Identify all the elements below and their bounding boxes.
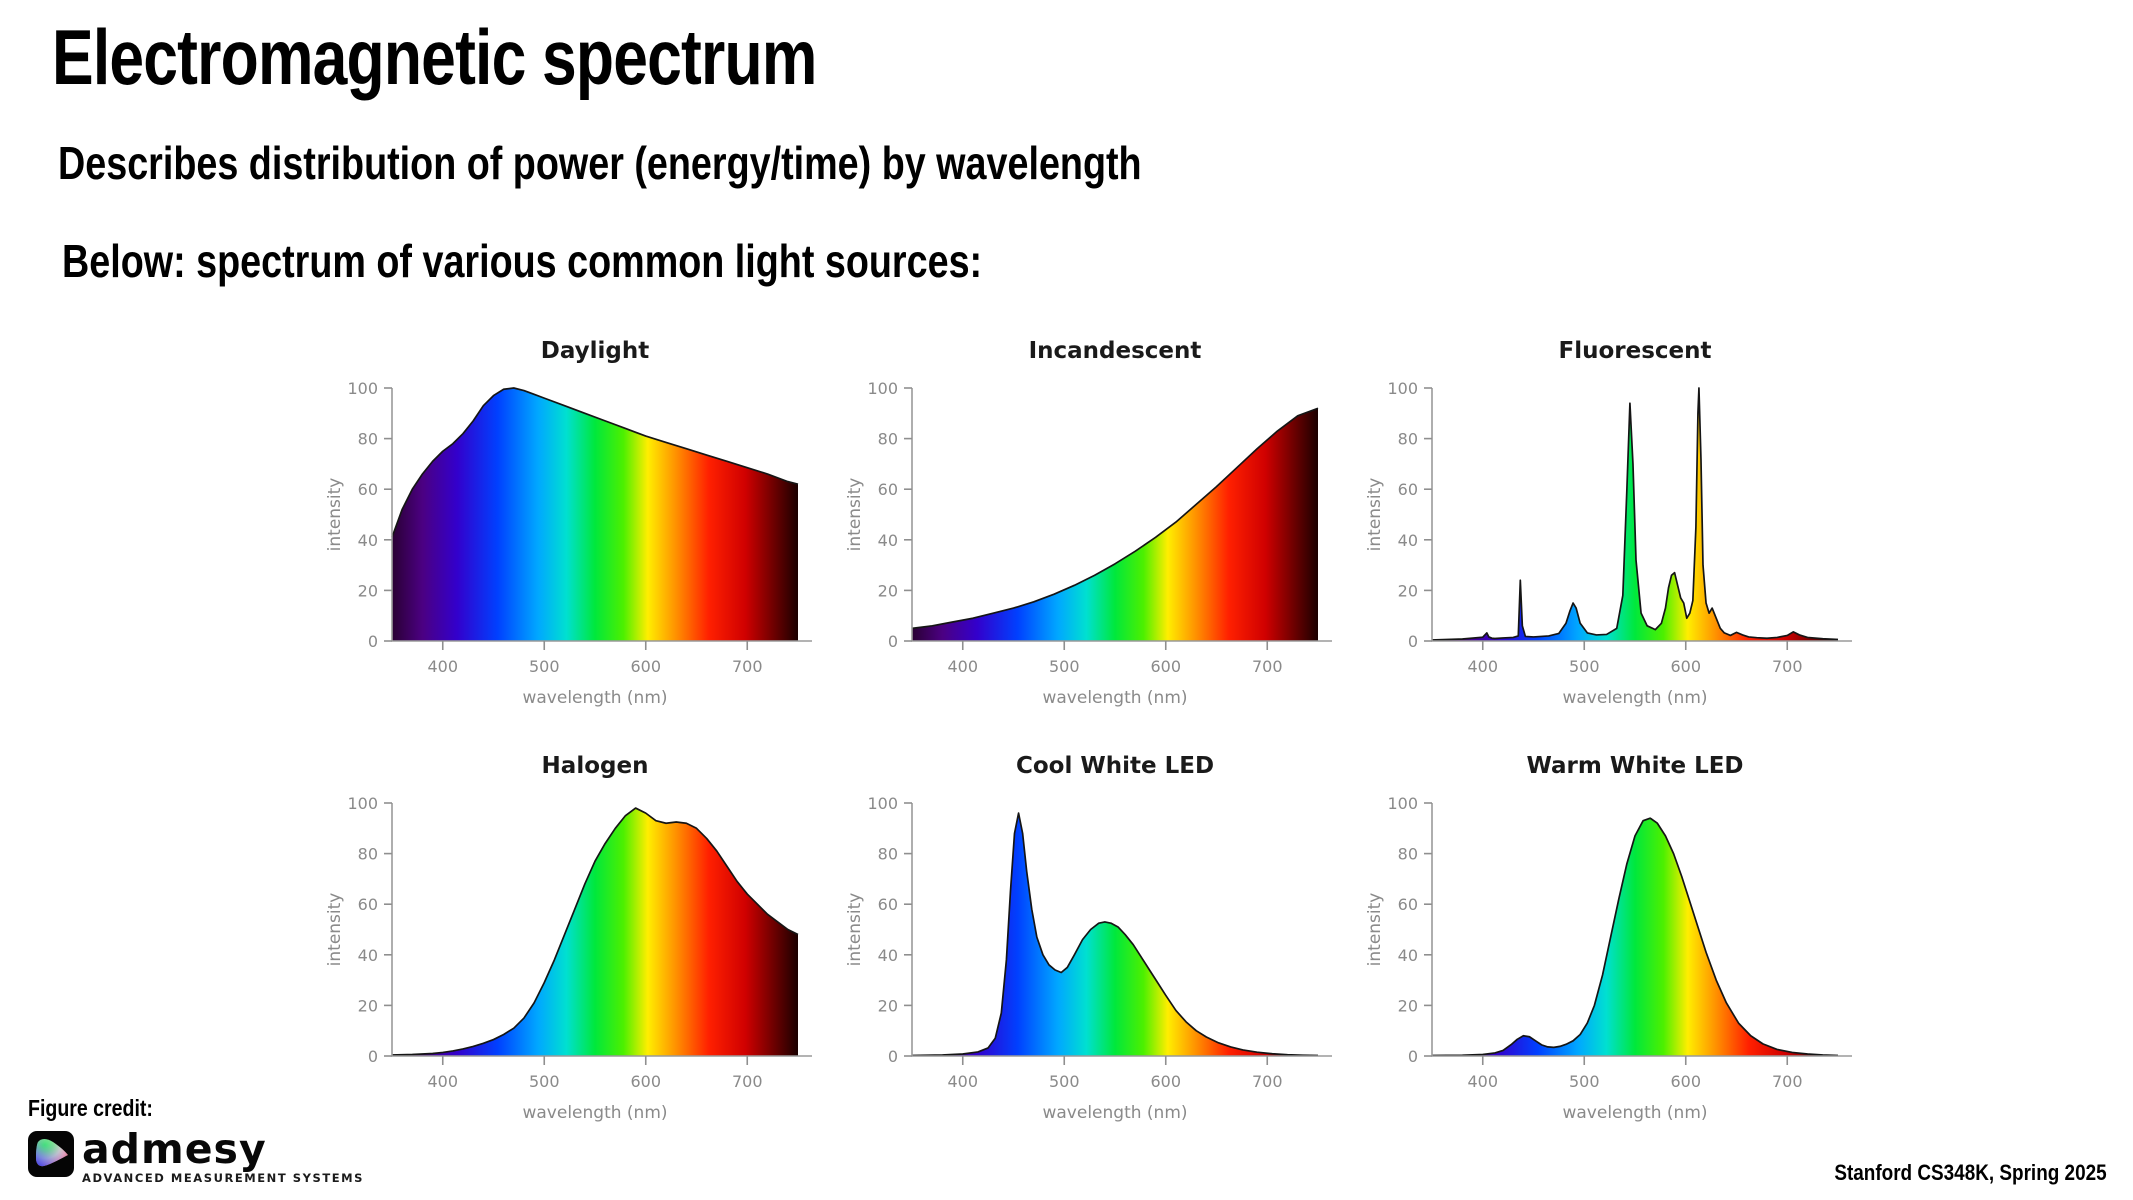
spectrum-chart-grid: Daylight020406080100400500600700waveleng… <box>300 330 1860 1160</box>
slide-subtitle-secondary: Below: spectrum of various common light … <box>62 238 982 284</box>
y-tick-label: 60 <box>358 895 378 914</box>
x-tick-label: 400 <box>427 657 458 676</box>
y-axis-label: intensity <box>845 893 865 967</box>
x-tick-label: 400 <box>947 1072 978 1091</box>
x-tick-label: 700 <box>1772 1072 1803 1091</box>
y-tick-label: 0 <box>368 632 378 651</box>
spectrum-fill <box>912 388 1318 641</box>
x-tick-label: 600 <box>630 1072 661 1091</box>
spectrum-fill <box>912 803 1318 1056</box>
y-axis-label: intensity <box>1365 478 1385 552</box>
chart-title: Daylight <box>541 338 650 364</box>
x-tick-label: 600 <box>1670 1072 1701 1091</box>
x-axis-label: wavelength (nm) <box>1562 688 1707 708</box>
axis-lines <box>1432 388 1852 641</box>
x-tick-label: 600 <box>1150 657 1181 676</box>
y-tick-label: 60 <box>358 480 378 499</box>
x-tick-label: 600 <box>1150 1072 1181 1091</box>
slide-subtitle-primary: Describes distribution of power (energy/… <box>58 140 1142 186</box>
y-tick-label: 100 <box>867 794 898 813</box>
y-tick-label: 100 <box>1387 794 1418 813</box>
chart-panel-incandescent: Incandescent020406080100400500600700wave… <box>820 330 1340 745</box>
x-axis-label: wavelength (nm) <box>522 688 667 708</box>
y-tick-label: 60 <box>878 480 898 499</box>
y-tick-label: 80 <box>878 845 898 864</box>
spectrum-fill <box>392 388 798 641</box>
spectrum-fill <box>392 803 798 1056</box>
y-tick-label: 80 <box>358 430 378 449</box>
y-tick-label: 100 <box>347 794 378 813</box>
x-tick-label: 500 <box>529 1072 560 1091</box>
y-tick-label: 20 <box>1398 581 1418 600</box>
figure-credit: Figure credit: <box>28 1095 364 1185</box>
x-tick-label: 400 <box>947 657 978 676</box>
chart-panel-halogen: Halogen020406080100400500600700wavelengt… <box>300 745 820 1160</box>
x-axis-label: wavelength (nm) <box>1562 1103 1707 1123</box>
y-tick-label: 60 <box>1398 895 1418 914</box>
x-tick-label: 700 <box>1772 657 1803 676</box>
x-tick-label: 700 <box>732 657 763 676</box>
y-tick-label: 40 <box>1398 531 1418 550</box>
y-tick-label: 20 <box>358 996 378 1015</box>
y-axis-label: intensity <box>325 478 345 552</box>
y-tick-label: 80 <box>358 845 378 864</box>
y-tick-label: 60 <box>878 895 898 914</box>
y-tick-label: 60 <box>1398 480 1418 499</box>
admesy-text: admesy ADVANCED MEASUREMENT SYSTEMS <box>82 1131 364 1185</box>
y-tick-label: 20 <box>358 581 378 600</box>
x-tick-label: 700 <box>732 1072 763 1091</box>
page-title: Electromagnetic spectrum <box>52 18 817 96</box>
chart-title: Warm White LED <box>1526 753 1743 779</box>
x-tick-label: 700 <box>1252 657 1283 676</box>
chart-panel-daylight: Daylight020406080100400500600700waveleng… <box>300 330 820 745</box>
y-axis-label: intensity <box>1365 893 1385 967</box>
y-axis-label: intensity <box>325 893 345 967</box>
x-tick-label: 500 <box>1569 1072 1600 1091</box>
x-tick-label: 700 <box>1252 1072 1283 1091</box>
chart-panel-warm-white-led: Warm White LED020406080100400500600700wa… <box>1340 745 1860 1160</box>
x-tick-label: 600 <box>1670 657 1701 676</box>
y-tick-label: 100 <box>347 379 378 398</box>
admesy-logo: admesy ADVANCED MEASUREMENT SYSTEMS <box>28 1131 364 1185</box>
admesy-wordmark: admesy <box>82 1131 364 1169</box>
chart-title: Fluorescent <box>1558 338 1711 364</box>
x-tick-label: 500 <box>1049 657 1080 676</box>
y-tick-label: 20 <box>878 996 898 1015</box>
y-tick-label: 80 <box>878 430 898 449</box>
chart-panel-cool-white-led: Cool White LED020406080100400500600700wa… <box>820 745 1340 1160</box>
y-tick-label: 0 <box>888 1047 898 1066</box>
x-tick-label: 400 <box>1467 657 1498 676</box>
y-tick-label: 40 <box>358 531 378 550</box>
y-tick-label: 40 <box>878 946 898 965</box>
chart-title: Halogen <box>542 753 649 779</box>
y-tick-label: 40 <box>358 946 378 965</box>
chromaticity-diagram-icon <box>28 1131 74 1177</box>
x-axis-label: wavelength (nm) <box>1042 688 1187 708</box>
y-tick-label: 20 <box>1398 996 1418 1015</box>
chart-panel-fluorescent: Fluorescent020406080100400500600700wavel… <box>1340 330 1860 745</box>
x-tick-label: 400 <box>1467 1072 1498 1091</box>
y-tick-label: 0 <box>1408 632 1418 651</box>
figure-credit-label: Figure credit: <box>28 1095 314 1122</box>
x-tick-label: 400 <box>427 1072 458 1091</box>
y-tick-label: 0 <box>1408 1047 1418 1066</box>
y-tick-label: 80 <box>1398 430 1418 449</box>
x-tick-label: 600 <box>630 657 661 676</box>
x-axis-label: wavelength (nm) <box>1042 1103 1187 1123</box>
y-tick-label: 20 <box>878 581 898 600</box>
y-tick-label: 80 <box>1398 845 1418 864</box>
admesy-tagline: ADVANCED MEASUREMENT SYSTEMS <box>82 1171 364 1185</box>
chart-title: Cool White LED <box>1016 753 1214 779</box>
chart-title: Incandescent <box>1029 338 1202 364</box>
y-tick-label: 0 <box>368 1047 378 1066</box>
y-axis-label: intensity <box>845 478 865 552</box>
y-tick-label: 40 <box>878 531 898 550</box>
x-tick-label: 500 <box>1569 657 1600 676</box>
x-axis-label: wavelength (nm) <box>522 1103 667 1123</box>
course-credit: Stanford CS348K, Spring 2025 <box>1835 1160 2107 1186</box>
y-tick-label: 40 <box>1398 946 1418 965</box>
y-tick-label: 100 <box>1387 379 1418 398</box>
x-tick-label: 500 <box>529 657 560 676</box>
x-tick-label: 500 <box>1049 1072 1080 1091</box>
y-tick-label: 100 <box>867 379 898 398</box>
y-tick-label: 0 <box>888 632 898 651</box>
spectrum-fill <box>1432 803 1838 1056</box>
